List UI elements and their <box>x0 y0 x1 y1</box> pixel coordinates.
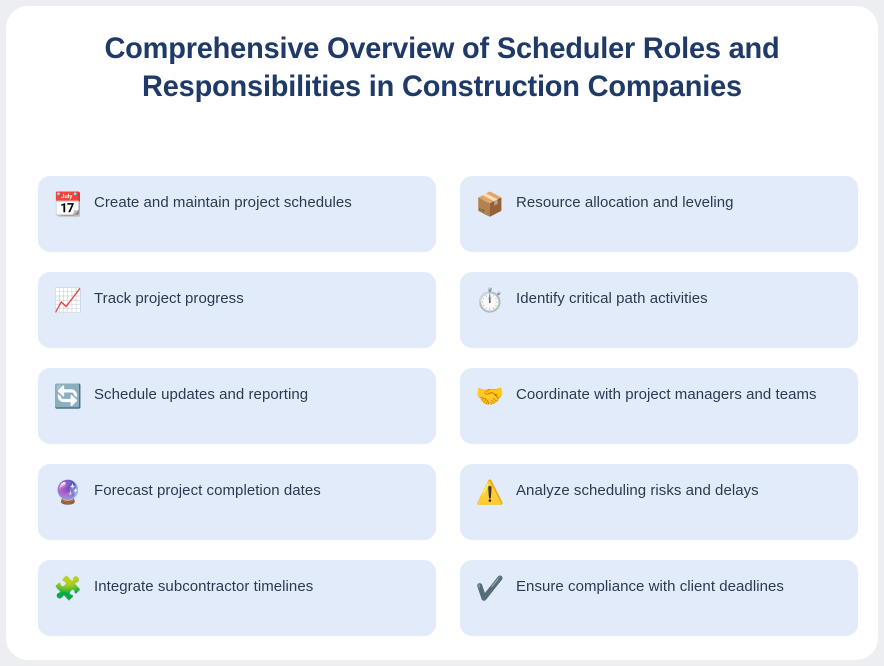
responsibility-card[interactable]: 📈Track project progress <box>38 272 436 348</box>
puzzle-piece-icon: 🧩 <box>54 574 82 602</box>
sync-refresh-icon: 🔄 <box>54 382 82 410</box>
responsibility-card[interactable]: 📦Resource allocation and leveling <box>460 176 858 252</box>
crystal-ball-icon: 🔮 <box>54 478 82 506</box>
responsibility-label: Ensure compliance with client deadlines <box>516 573 842 597</box>
check-mark-icon: ✔️ <box>476 574 504 602</box>
responsibility-label: Resource allocation and leveling <box>516 189 842 213</box>
page-title: Comprehensive Overview of Scheduler Role… <box>66 30 819 106</box>
responsibility-card[interactable]: 🔮Forecast project completion dates <box>38 464 436 540</box>
title-block: Comprehensive Overview of Scheduler Role… <box>52 30 832 106</box>
handshake-icon: 🤝 <box>476 382 504 410</box>
responsibility-label: Analyze scheduling risks and delays <box>516 477 842 501</box>
warning-triangle-icon: ⚠️ <box>476 478 504 506</box>
stopwatch-icon: ⏱️ <box>476 286 504 314</box>
responsibility-label: Coordinate with project managers and tea… <box>516 381 842 405</box>
responsibility-label: Create and maintain project schedules <box>94 189 420 213</box>
responsibility-card[interactable]: 🤝Coordinate with project managers and te… <box>460 368 858 444</box>
responsibility-card[interactable]: 📆Create and maintain project schedules <box>38 176 436 252</box>
responsibility-label: Track project progress <box>94 285 420 309</box>
responsibility-label: Schedule updates and reporting <box>94 381 420 405</box>
responsibility-card[interactable]: ✔️Ensure compliance with client deadline… <box>460 560 858 636</box>
responsibility-card[interactable]: ⏱️Identify critical path activities <box>460 272 858 348</box>
responsibility-label: Forecast project completion dates <box>94 477 420 501</box>
chart-increasing-icon: 📈 <box>54 286 82 314</box>
responsibility-label: Identify critical path activities <box>516 285 842 309</box>
page-canvas: Comprehensive Overview of Scheduler Role… <box>6 6 878 660</box>
package-box-icon: 📦 <box>476 190 504 218</box>
responsibility-card[interactable]: 🧩Integrate subcontractor timelines <box>38 560 436 636</box>
responsibility-label: Integrate subcontractor timelines <box>94 573 420 597</box>
calendar-icon: 📆 <box>54 190 82 218</box>
responsibilities-grid: 📆Create and maintain project schedules📦R… <box>38 176 858 636</box>
responsibility-card[interactable]: 🔄Schedule updates and reporting <box>38 368 436 444</box>
responsibility-card[interactable]: ⚠️Analyze scheduling risks and delays <box>460 464 858 540</box>
